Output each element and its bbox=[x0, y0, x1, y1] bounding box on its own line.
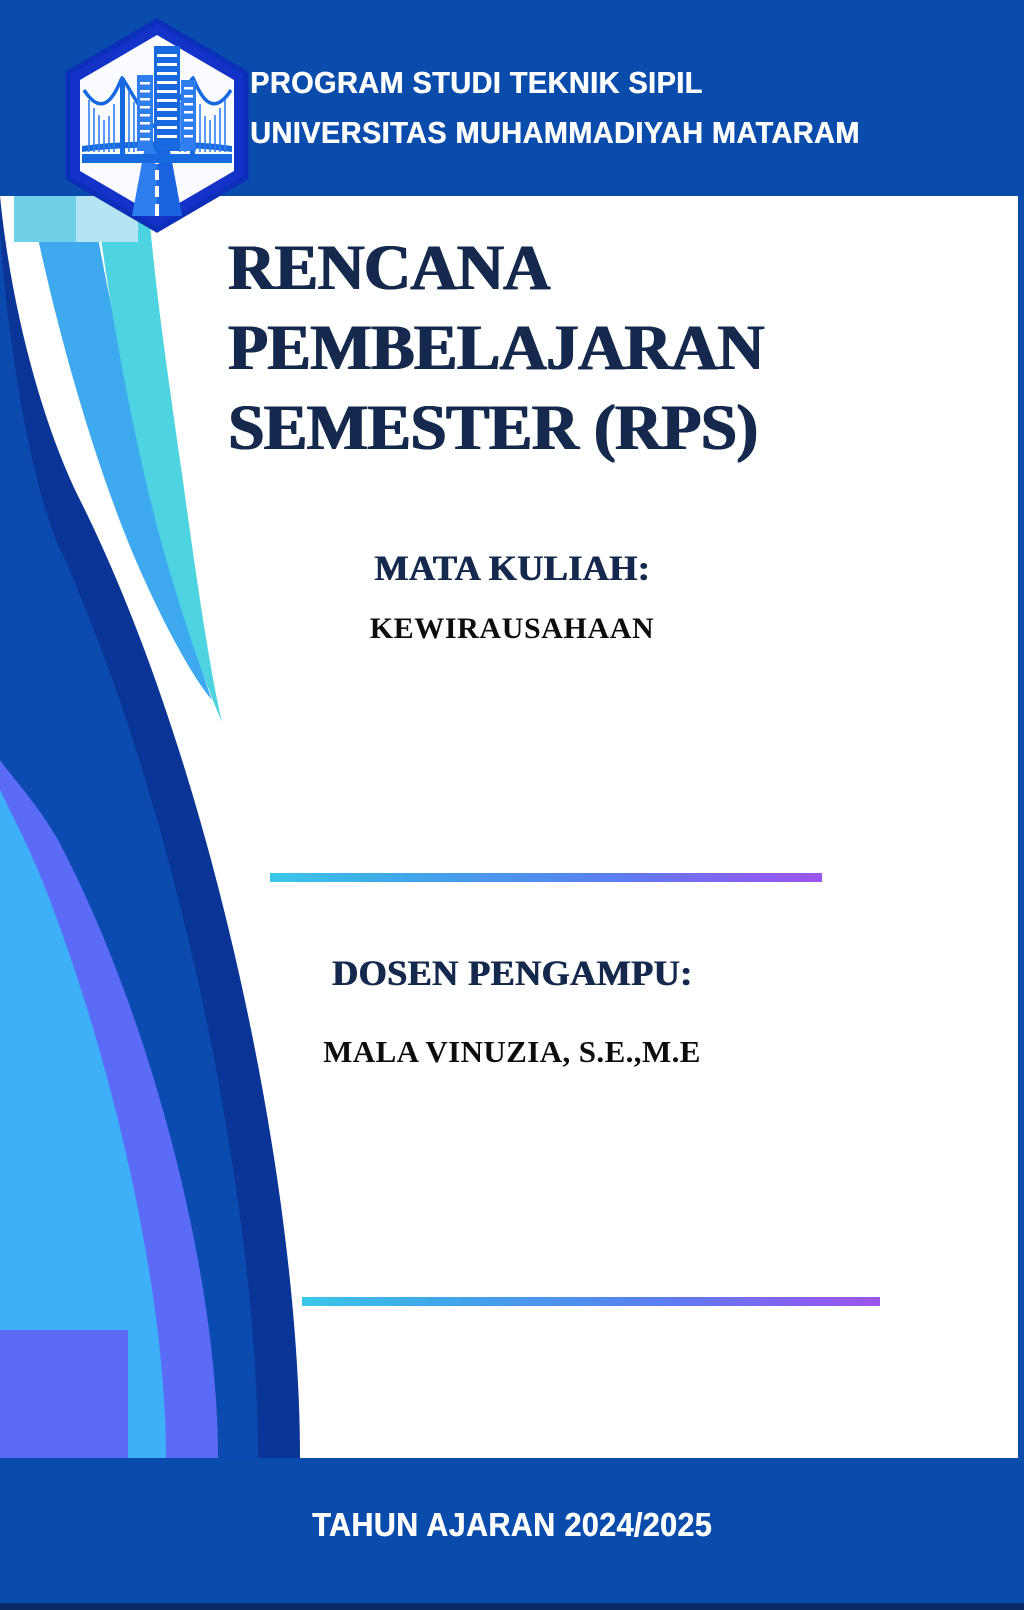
course-label: MATA KULIAH: bbox=[0, 547, 1024, 589]
footer-band: TAHUN AJARAN 2024/2025 bbox=[0, 1458, 1024, 1610]
gradient-divider-bottom bbox=[302, 1297, 880, 1306]
header-institution-block: PROGRAM STUDI TEKNIK SIPIL UNIVERSITAS M… bbox=[250, 58, 906, 158]
accent-block-periwinkle bbox=[0, 1330, 128, 1458]
academic-year: TAHUN AJARAN 2024/2025 bbox=[41, 1506, 983, 1544]
title-line-3: SEMESTER (RPS) bbox=[228, 388, 848, 468]
program-study-line: PROGRAM STUDI TEKNIK SIPIL bbox=[250, 58, 860, 108]
page-title: RENCANA PEMBELAJARAN SEMESTER (RPS) bbox=[228, 228, 848, 468]
university-hexagon-bridge-logo bbox=[62, 18, 252, 233]
lecturer-name: MALA VINUZIA, S.E.,M.E bbox=[0, 1034, 1024, 1070]
course-name: KEWIRAUSAHAAN bbox=[0, 612, 1024, 646]
rps-cover-page: PROGRAM STUDI TEKNIK SIPIL UNIVERSITAS M… bbox=[0, 0, 1024, 1610]
university-line: UNIVERSITAS MUHAMMADIYAH MATARAM bbox=[250, 108, 860, 158]
footer-bottom-rule bbox=[0, 1603, 1024, 1610]
title-line-2: PEMBELAJARAN bbox=[228, 308, 848, 388]
lecturer-label: DOSEN PENGAMPU: bbox=[0, 952, 1024, 994]
title-line-1: RENCANA bbox=[228, 228, 848, 308]
right-border-strip bbox=[1018, 196, 1024, 1458]
gradient-divider-top bbox=[270, 873, 822, 882]
